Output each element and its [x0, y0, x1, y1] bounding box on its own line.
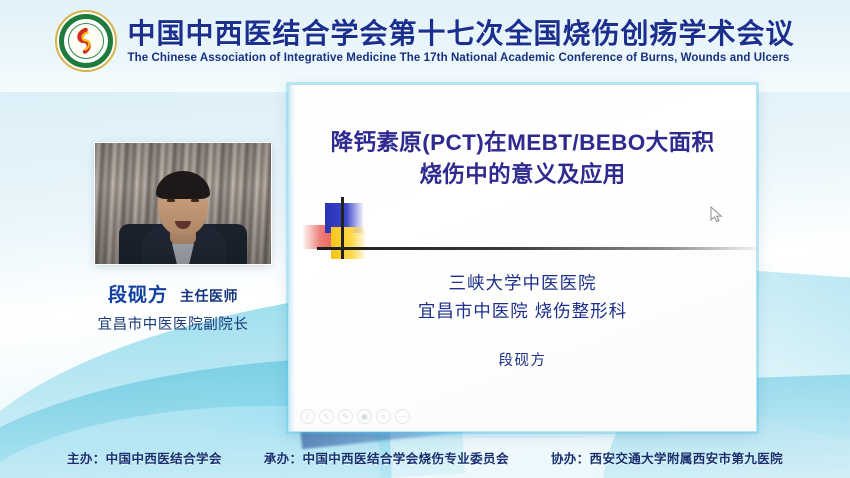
slide-viewer-toolbar[interactable]: i ↖ ✎ ◉ ⌕ ⋯: [300, 409, 410, 424]
more-icon[interactable]: ⋯: [395, 409, 410, 424]
laser-icon[interactable]: ◉: [357, 409, 372, 424]
zoom-icon[interactable]: ⌕: [376, 409, 391, 424]
footer-organizer: 承办：中国中西医结合学会烧伤专业委员会: [264, 448, 509, 467]
conference-title-en: The Chinese Association of Integrative M…: [127, 52, 794, 64]
deco-square-yellow: [331, 227, 365, 259]
deco-horizontal-line: [317, 247, 757, 250]
presenter-title: 主任医师: [180, 286, 238, 306]
mouse-cursor-icon: [710, 206, 723, 223]
association-logo-icon: [55, 10, 117, 72]
slide-left-accent: [289, 85, 295, 431]
presenter-affiliation: 宜昌市中医医院副院长: [58, 313, 288, 334]
presentation-slide-panel[interactable]: 降钙素原(PCT)在MEBT/BEBO大面积 烧伤中的意义及应用 三峡大学中医医…: [288, 84, 757, 432]
pointer-icon[interactable]: ↖: [319, 409, 334, 424]
video-vignette: [95, 143, 271, 264]
slide-organization: 三峡大学中医医院 宜昌市中医院 烧伤整形科: [315, 269, 730, 326]
presenter-name: 段砚方: [108, 280, 168, 307]
conference-footer: 主办：中国中西医结合学会 承办：中国中西医结合学会烧伤专业委员会 协办：西安交通…: [0, 432, 850, 478]
info-icon[interactable]: i: [300, 409, 315, 424]
slide-org-line-1: 三峡大学中医医院: [315, 269, 730, 297]
slide-org-line-2: 宜昌市中医院 烧伤整形科: [315, 297, 730, 325]
webinar-screen: 中国中西医结合学会第十七次全国烧伤创疡学术会议 The Chinese Asso…: [0, 0, 850, 478]
slide-author: 段砚方: [315, 349, 730, 370]
deco-vertical-line: [341, 197, 344, 259]
speaker-video-tile[interactable]: [95, 143, 271, 264]
pen-icon[interactable]: ✎: [338, 409, 353, 424]
presenter-caption: 段砚方 主任医师 宜昌市中医医院副院长: [58, 280, 288, 334]
slide-title-line-2: 烧伤中的意义及应用: [315, 159, 730, 191]
slide-decorative-squares-icon: [303, 197, 393, 269]
footer-host: 主办：中国中西医结合学会: [67, 448, 222, 467]
footer-coorganizer: 协办：西安交通大学附属西安市第九医院: [551, 448, 783, 467]
conference-title-cn: 中国中西医结合学会第十七次全国烧伤创疡学术会议: [127, 18, 794, 49]
slide-title-line-1: 降钙素原(PCT)在MEBT/BEBO大面积: [315, 127, 730, 159]
slide-title: 降钙素原(PCT)在MEBT/BEBO大面积 烧伤中的意义及应用: [315, 127, 730, 191]
conference-header: 中国中西医结合学会第十七次全国烧伤创疡学术会议 The Chinese Asso…: [0, 0, 850, 84]
